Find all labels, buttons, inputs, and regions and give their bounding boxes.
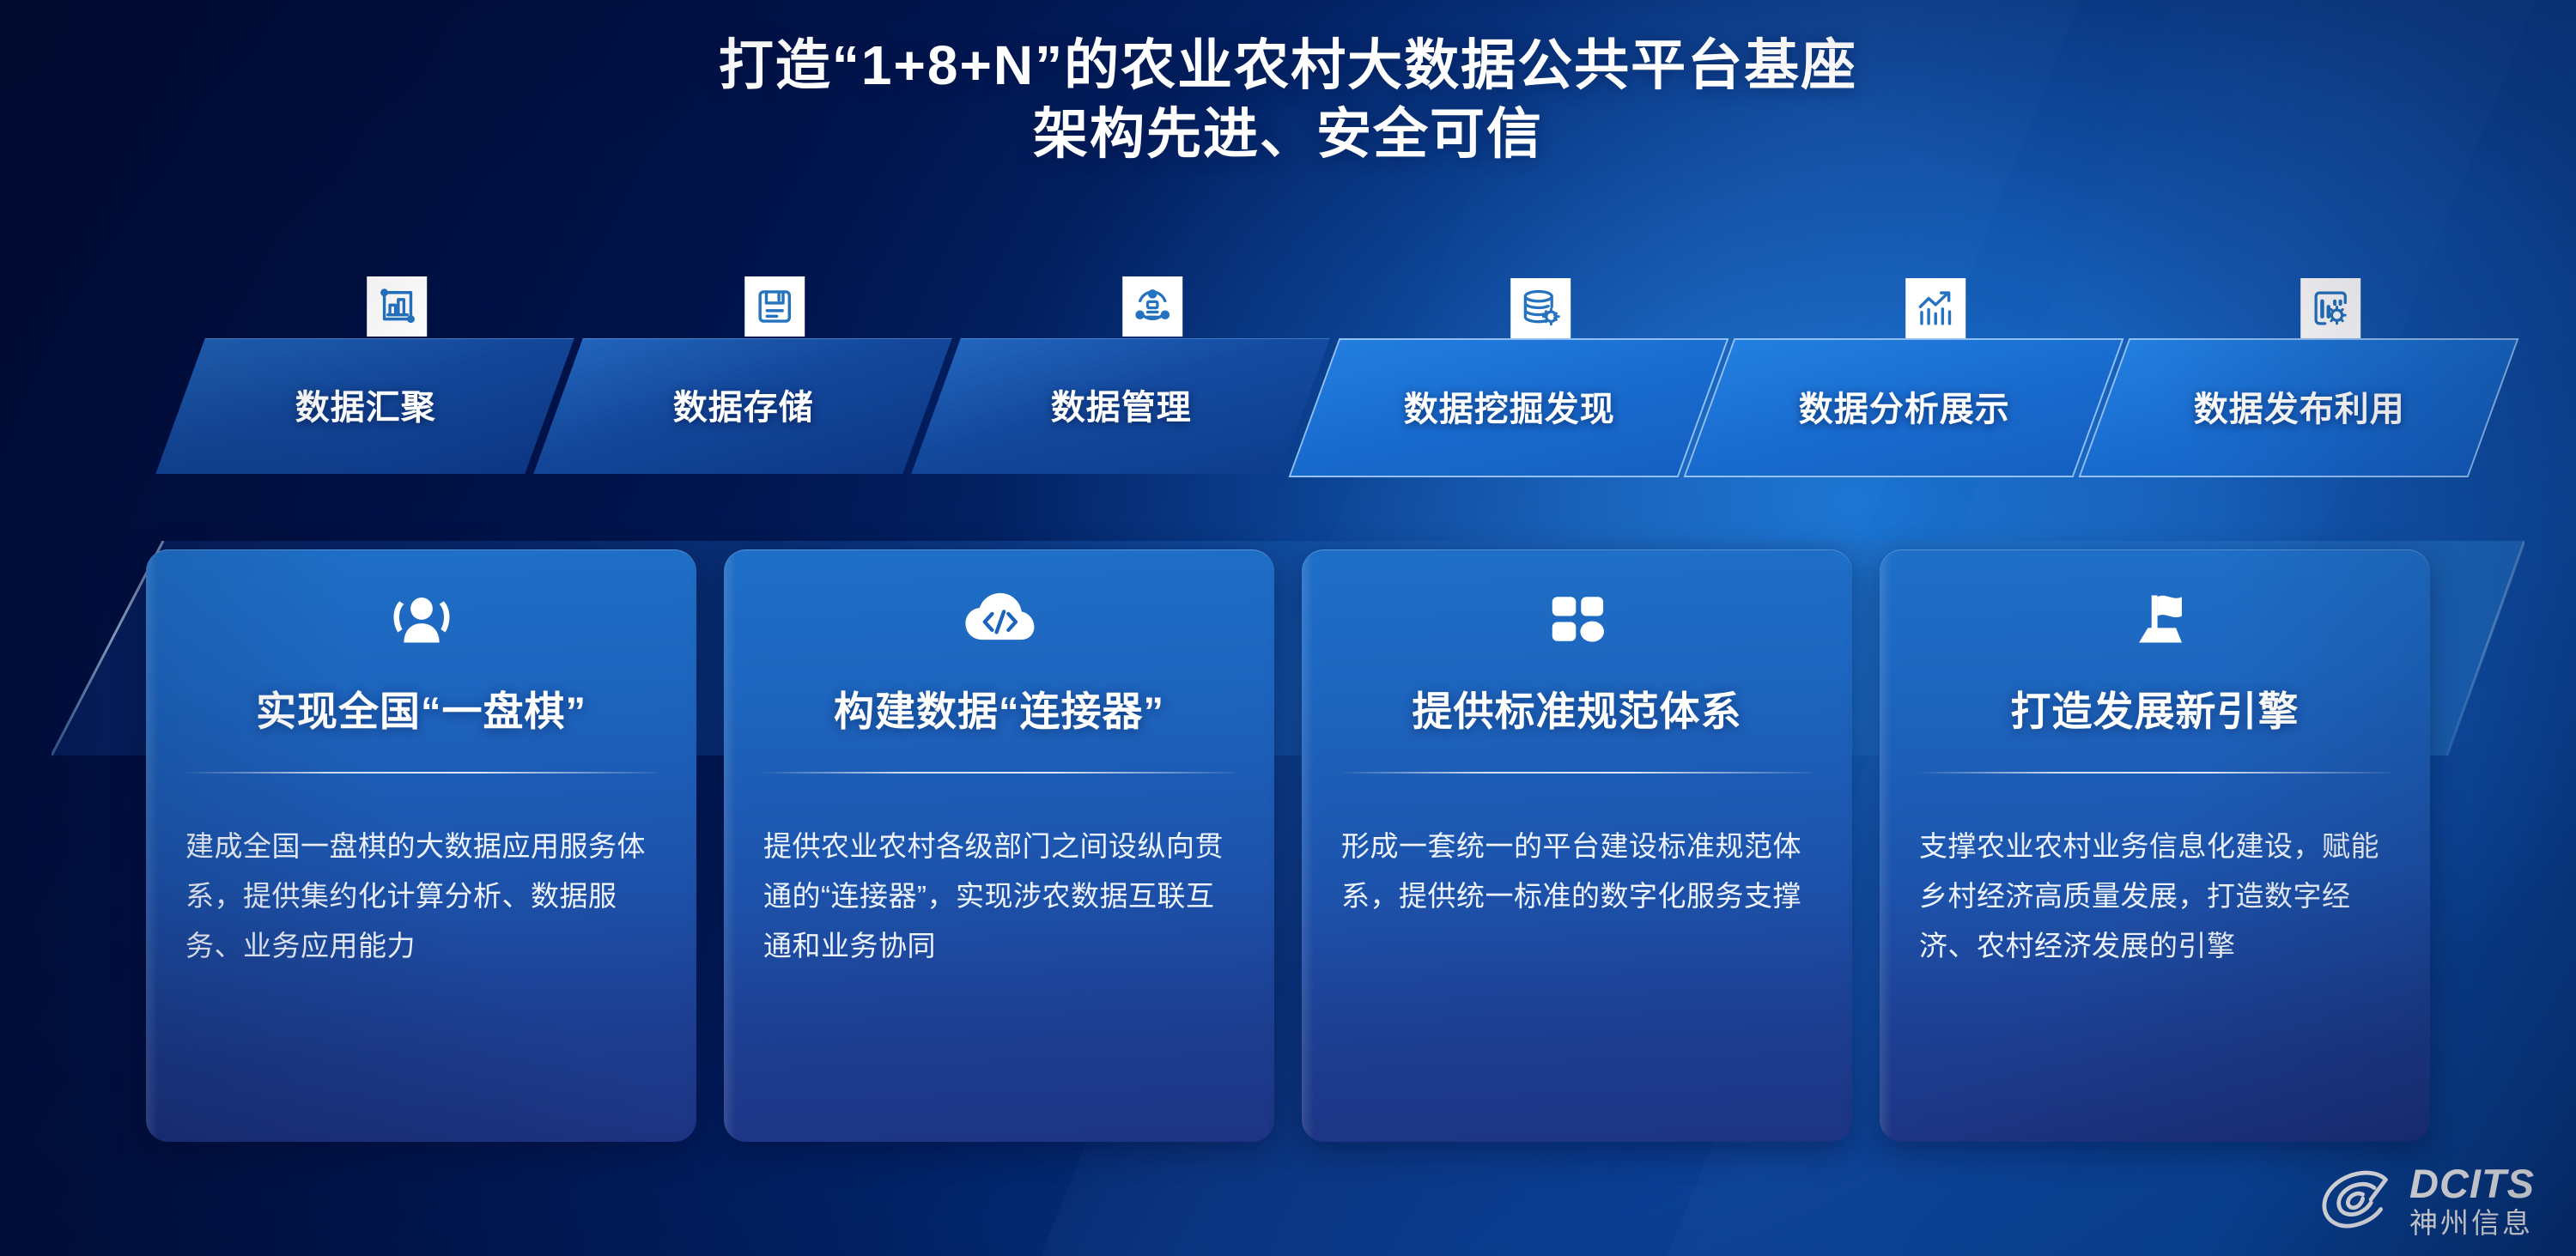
data-lifecycle-flow: 数据汇聚 数据存储 <box>0 258 2576 515</box>
flow-step-2[interactable]: 数据存储 <box>533 338 952 474</box>
value-card-1-body: 建成全国一盘棋的大数据应用服务体系，提供集约化计算分析、数据服务、业务应用能力 <box>185 822 657 970</box>
title-line-1: 打造“1+8+N”的农业农村大数据公共平台基座 <box>0 31 2576 100</box>
flow-cells: 数据汇聚 数据存储 <box>129 307 2447 505</box>
flow-step-3[interactable]: 数据管理 <box>911 338 1330 474</box>
value-card-4[interactable]: 打造发展新引擎 支撑农业农村业务信息化建设，赋能乡村经济高质量发展，打造数字经济… <box>1880 549 2430 1142</box>
flow-step-5[interactable]: 数据分析展示 <box>1684 338 2124 477</box>
value-card-1-title: 实现全国“一盘棋” <box>185 678 657 737</box>
dcits-swirl-icon <box>2315 1163 2397 1237</box>
value-card-2-title: 构建数据“连接器” <box>763 678 1235 737</box>
card-divider <box>1341 772 1813 774</box>
value-card-4-body: 支撑农业农村业务信息化建设，赋能乡村经济高质量发展，打造数字经济、农村经济发展的… <box>1919 822 2391 970</box>
flow-cells-wrapper: 数据汇聚 数据存储 <box>129 307 2447 505</box>
flow-step-6[interactable]: 数据发布利用 <box>2079 338 2519 477</box>
value-card-3-title: 提供标准规范体系 <box>1341 678 1813 737</box>
brand-logo: DCITS 神州信息 <box>2315 1163 2535 1237</box>
value-card-1[interactable]: 实现全国“一盘棋” 建成全国一盘棋的大数据应用服务体系，提供集约化计算分析、数据… <box>146 549 696 1142</box>
logo-name: DCITS <box>2409 1163 2535 1204</box>
slide-title: 打造“1+8+N”的农业农村大数据公共平台基座 架构先进、安全可信 <box>0 31 2576 168</box>
flow-step-1-label: 数据汇聚 <box>181 379 550 429</box>
card-divider <box>1919 772 2391 774</box>
slide-root: 打造“1+8+N”的农业农村大数据公共平台基座 架构先进、安全可信 <box>0 0 2576 1256</box>
flow-step-4-label: 数据挖掘发现 <box>1316 381 1703 431</box>
value-card-3[interactable]: 提供标准规范体系 形成一套统一的平台建设标准规范体系，提供统一标准的数字化服务支… <box>1302 549 1852 1142</box>
trend-chart-icon <box>1905 278 1965 338</box>
chart-gear-icon <box>2300 278 2360 338</box>
card-divider <box>185 772 657 774</box>
value-card-2-body: 提供农业农村各级部门之间设纵向贯通的“连接器”，实现涉农数据互联互通和业务协同 <box>763 822 1235 970</box>
flow-step-2-label: 数据存储 <box>559 379 928 429</box>
cloud-code-icon <box>763 549 1235 656</box>
card-divider <box>763 772 1235 774</box>
four-blocks-icon <box>1341 549 1813 656</box>
flow-step-5-label: 数据分析展示 <box>1711 381 2098 431</box>
flow-step-3-label: 数据管理 <box>937 379 1306 429</box>
value-card-4-title: 打造发展新引擎 <box>1919 678 2391 737</box>
people-icon <box>185 549 657 656</box>
user-network-icon <box>1122 276 1182 337</box>
logo-subtitle: 神州信息 <box>2409 1209 2535 1237</box>
database-gear-icon <box>1510 278 1571 338</box>
value-cards: 实现全国“一盘棋” 建成全国一盘棋的大数据应用服务体系，提供集约化计算分析、数据… <box>146 549 2430 1142</box>
value-card-2[interactable]: 构建数据“连接器” 提供农业农村各级部门之间设纵向贯通的“连接器”，实现涉农数据… <box>724 549 1274 1142</box>
logo-text: DCITS 神州信息 <box>2409 1163 2535 1237</box>
bar-chart-document-icon <box>367 276 427 337</box>
flag-icon <box>1919 549 2391 656</box>
flow-step-4[interactable]: 数据挖掘发现 <box>1289 338 1729 477</box>
flow-step-1[interactable]: 数据汇聚 <box>155 338 574 474</box>
title-line-2: 架构先进、安全可信 <box>0 100 2576 168</box>
value-card-3-body: 形成一套统一的平台建设标准规范体系，提供统一标准的数字化服务支撑 <box>1341 822 1813 921</box>
flow-step-6-label: 数据发布利用 <box>2106 381 2493 431</box>
database-save-icon <box>744 276 805 337</box>
